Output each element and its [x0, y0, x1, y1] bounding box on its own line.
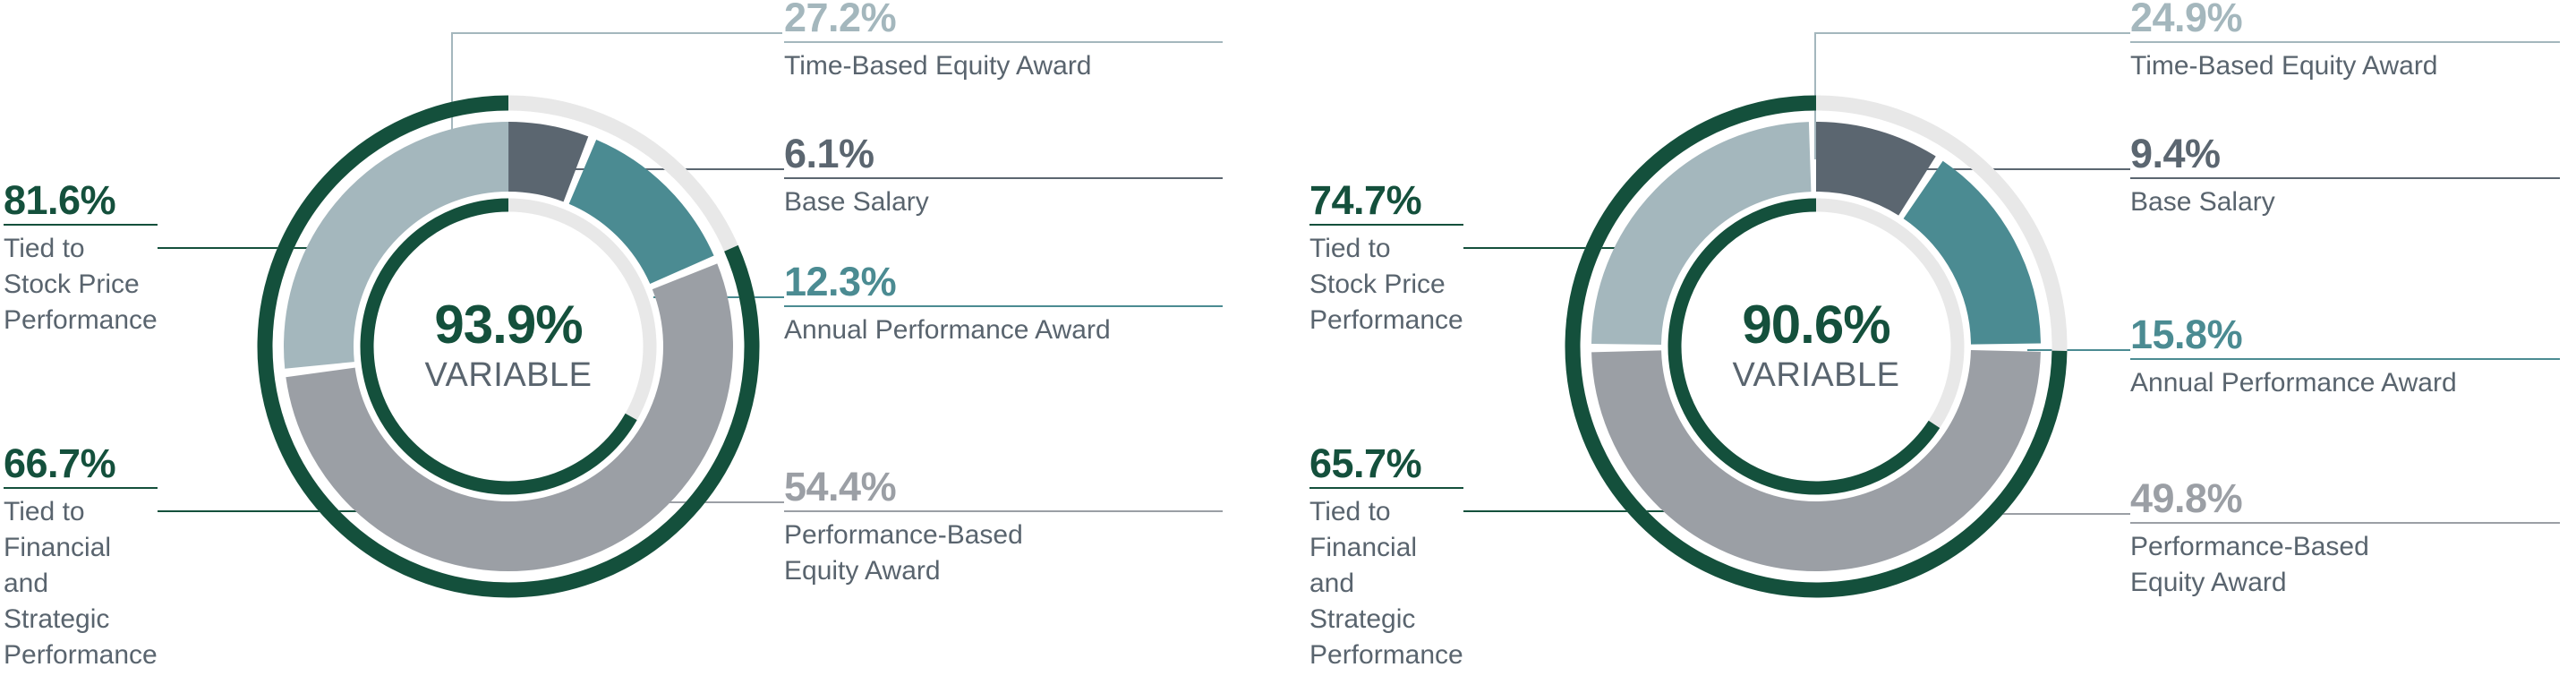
label-description: Tied to Financial and Strategic Performa…	[1309, 489, 1463, 672]
label-time-based-equity-award: 24.9% Time-Based Equity Award	[2130, 0, 2560, 84]
donut-svg	[1548, 78, 2085, 615]
label-percent: 24.9%	[2130, 0, 2560, 41]
label-percent: 81.6%	[4, 179, 158, 224]
label-percent: 74.7%	[1309, 179, 1463, 224]
donut-segments	[319, 157, 698, 536]
label-percent: 12.3%	[784, 261, 1223, 305]
pay-mix-panel-neo: 90.6% VARIABLE 74.7% Tied to Stock Price…	[1288, 0, 2576, 693]
label-annual-performance-award: 12.3% Annual Performance Award	[784, 261, 1223, 348]
label-description: Tied to Stock Price Performance	[4, 226, 158, 338]
label-description: Tied to Stock Price Performance	[1309, 226, 1463, 338]
label-percent: 66.7%	[4, 442, 158, 487]
label-time-based-equity-award: 27.2% Time-Based Equity Award	[784, 0, 1223, 84]
donut-svg	[240, 78, 777, 615]
label-percent: 54.4%	[784, 466, 1223, 510]
label-base-salary: 9.4% Base Salary	[2130, 133, 2560, 220]
label-description: Time-Based Equity Award	[2130, 43, 2560, 84]
label-annual-performance-award: 15.8% Annual Performance Award	[2130, 313, 2560, 401]
label-percent: 6.1%	[784, 133, 1223, 177]
label-performance-based-equity-award: 49.8% Performance-Based Equity Award	[2130, 477, 2560, 601]
label-tied-to-stock-price-performance: 81.6% Tied to Stock Price Performance	[4, 179, 158, 338]
label-description: Performance-Based Equity Award	[784, 512, 1223, 589]
label-tied-to-financial-and-strategic-performance: 66.7% Tied to Financial and Strategic Pe…	[4, 442, 158, 673]
label-percent: 49.8%	[2130, 477, 2560, 522]
label-percent: 65.7%	[1309, 442, 1463, 487]
label-description: Annual Performance Award	[2130, 360, 2560, 401]
label-percent: 9.4%	[2130, 133, 2560, 177]
label-tied-to-stock-price-performance: 74.7% Tied to Stock Price Performance	[1309, 179, 1463, 338]
label-base-salary: 6.1% Base Salary	[784, 133, 1223, 220]
donut-chart-neo: 90.6% VARIABLE	[1548, 78, 2085, 615]
label-description: Annual Performance Award	[784, 307, 1223, 348]
label-description: Base Salary	[2130, 179, 2560, 220]
label-description: Tied to Financial and Strategic Performa…	[4, 489, 158, 672]
label-percent: 27.2%	[784, 0, 1223, 41]
label-description: Base Salary	[784, 179, 1223, 220]
donut-chart-ceo: 93.9% VARIABLE	[240, 78, 777, 615]
donut-segments	[1626, 157, 2006, 536]
label-performance-based-equity-award: 54.4% Performance-Based Equity Award	[784, 466, 1223, 589]
label-percent: 15.8%	[2130, 313, 2560, 358]
label-tied-to-financial-and-strategic-performance: 65.7% Tied to Financial and Strategic Pe…	[1309, 442, 1463, 673]
label-description: Performance-Based Equity Award	[2130, 524, 2560, 601]
pay-mix-panel-ceo: 93.9% VARIABLE 81.6% Tied to Stock Price…	[0, 0, 1288, 693]
label-description: Time-Based Equity Award	[784, 43, 1223, 84]
pay-mix-infographic: 93.9% VARIABLE 81.6% Tied to Stock Price…	[0, 0, 2576, 693]
